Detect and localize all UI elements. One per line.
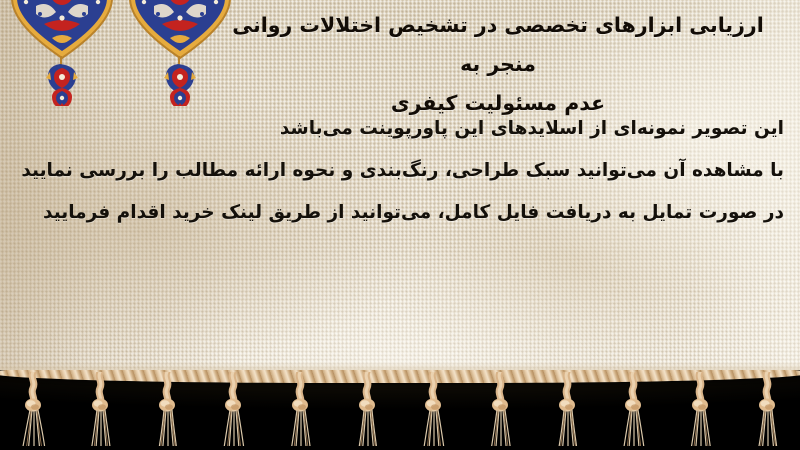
slide-title: ارزیابی ابزارهای تخصصی در تشخیص اختلالات… bbox=[210, 6, 786, 123]
carpet-tassel bbox=[352, 372, 382, 446]
slide-canvas: ارزیابی ابزارهای تخصصی در تشخیص اختلالات… bbox=[0, 0, 800, 450]
carpet-tassel bbox=[752, 372, 782, 446]
carpet-tassel bbox=[618, 372, 648, 446]
slide-body-line-1: این تصویر نمونه‌ای از اسلایدهای این پاور… bbox=[14, 108, 784, 150]
carpet-tassel bbox=[218, 372, 248, 446]
persian-carpet-medallion-icon-left bbox=[6, 0, 118, 110]
carpet-tassel bbox=[18, 372, 48, 446]
carpet-tassel bbox=[152, 372, 182, 446]
slide-body-line-2: با مشاهده آن می‌توانید سبک طراحی، رنگ‌بن… bbox=[14, 150, 784, 192]
slide-title-line-1: ارزیابی ابزارهای تخصصی در تشخیص اختلالات… bbox=[232, 13, 764, 76]
carpet-tassel bbox=[552, 372, 582, 446]
carpet-tassel bbox=[418, 372, 448, 446]
slide-body-line-3: در صورت تمایل به دریافت فایل کامل، می‌تو… bbox=[14, 192, 784, 234]
carpet-tassel bbox=[685, 372, 715, 446]
carpet-tassel-row bbox=[0, 370, 800, 450]
carpet-tassel bbox=[285, 372, 315, 446]
carpet-tassel bbox=[85, 372, 115, 446]
carpet-fringe-band bbox=[0, 370, 800, 450]
carpet-tassel bbox=[485, 372, 515, 446]
slide-body-text: این تصویر نمونه‌ای از اسلایدهای این پاور… bbox=[14, 108, 784, 235]
